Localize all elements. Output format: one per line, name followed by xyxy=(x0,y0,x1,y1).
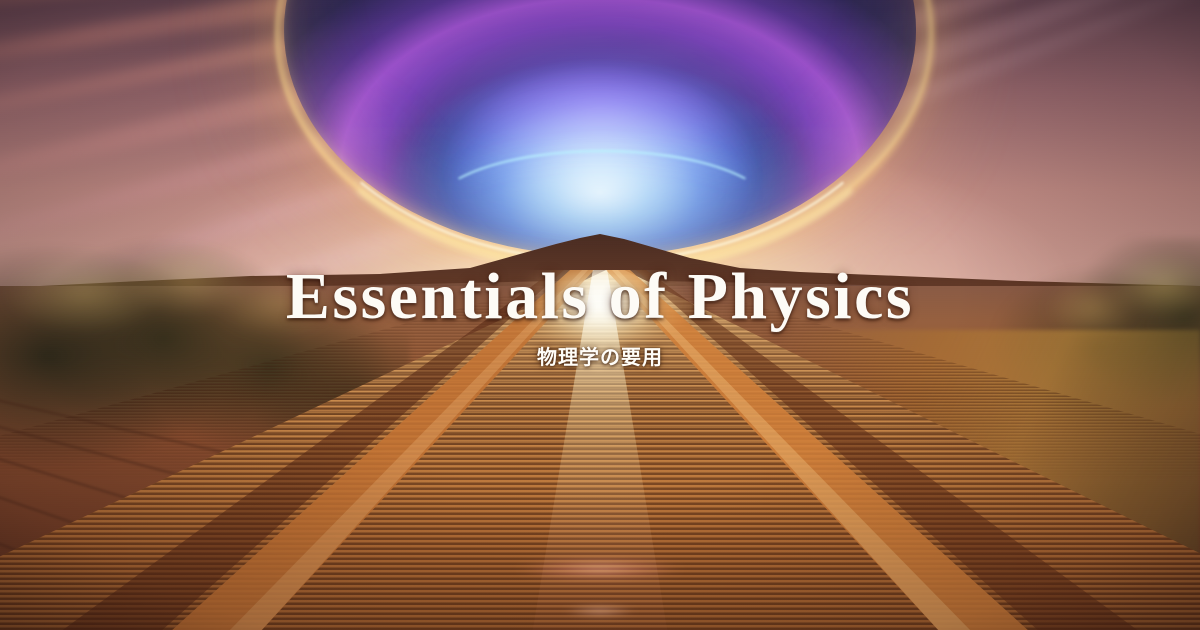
banner-title: Essentials of Physics xyxy=(0,262,1200,331)
banner-text-block: Essentials of Physics 物理学の要用 xyxy=(0,262,1200,370)
banner-subtitle: 物理学の要用 xyxy=(0,341,1200,370)
lens-flare-pink-small xyxy=(555,604,645,618)
hero-banner: Essentials of Physics 物理学の要用 xyxy=(0,0,1200,630)
lens-flare-pink xyxy=(495,556,705,582)
